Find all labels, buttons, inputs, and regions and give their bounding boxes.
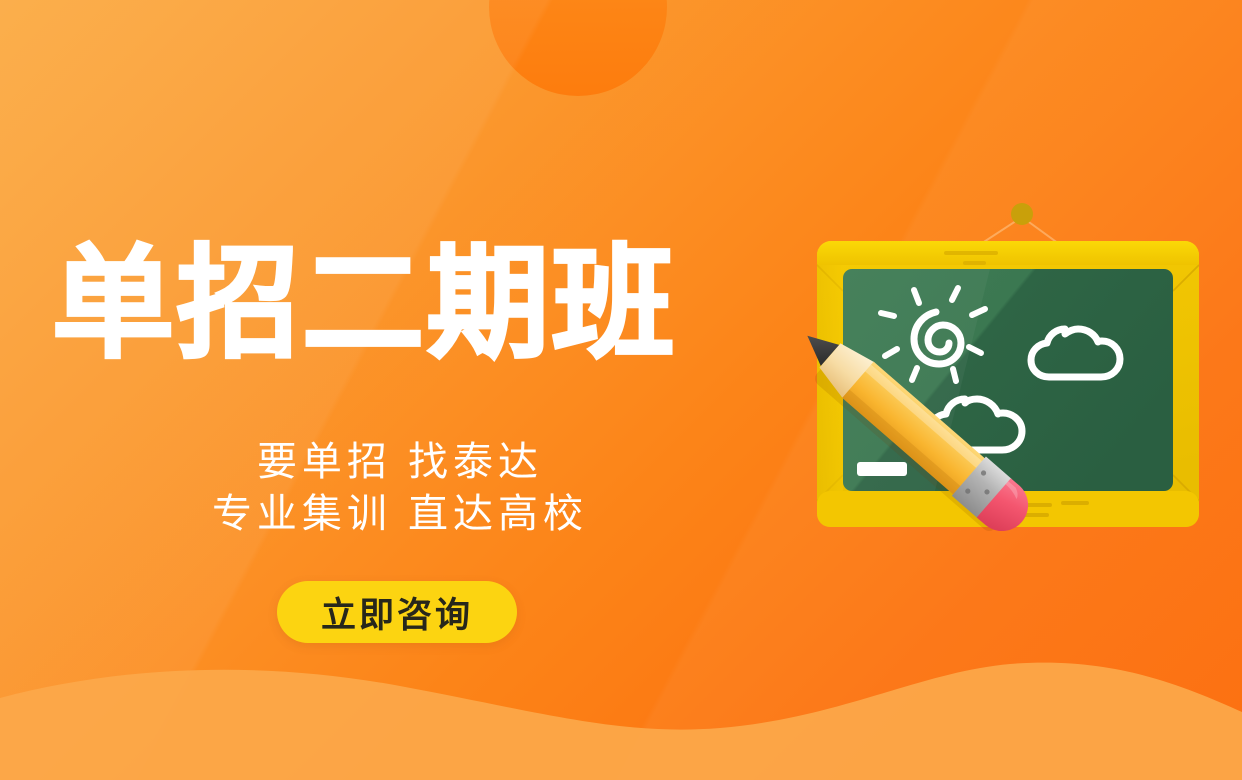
board-frame-top-bevel — [817, 241, 1199, 265]
page-title: 单招二期班 — [52, 243, 677, 365]
background-wave-decoration — [0, 620, 1242, 780]
subtitle-line-2: 专业集训 直达高校 — [0, 488, 800, 540]
subtitle-line-1: 要单招 找泰达 — [0, 436, 800, 488]
blackboard-illustration — [760, 195, 1242, 625]
promo-banner: 单招二期班 要单招 找泰达 专业集训 直达高校 立即咨询 — [0, 0, 1242, 780]
background-circle-decoration — [489, 0, 667, 96]
subtitle-block: 要单招 找泰达 专业集训 直达高校 — [0, 436, 800, 540]
chalk-stick — [857, 462, 907, 476]
cord-knob — [1011, 203, 1033, 225]
consult-now-button[interactable]: 立即咨询 — [277, 581, 517, 643]
